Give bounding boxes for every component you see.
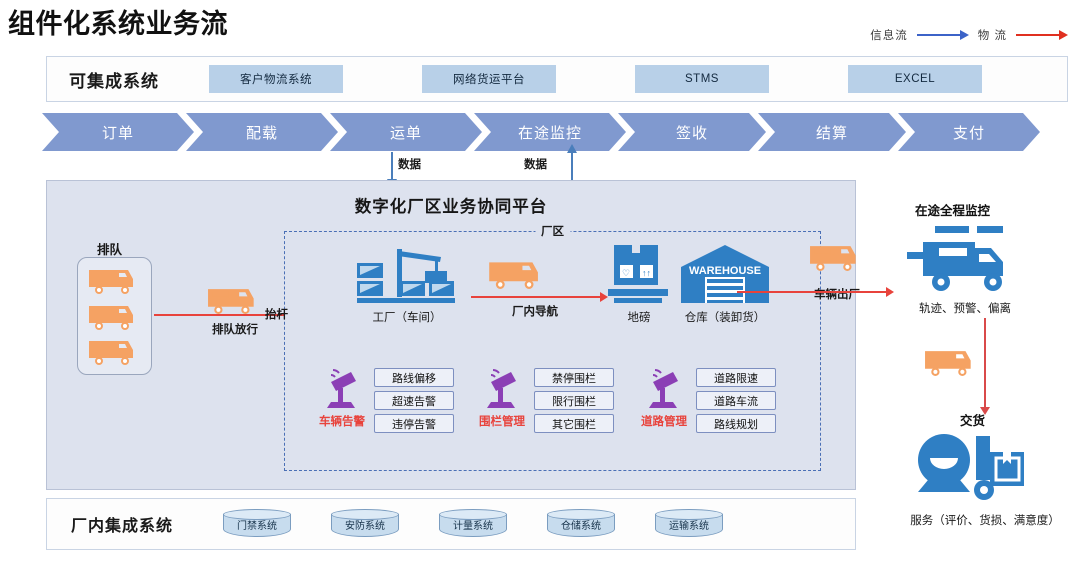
- truck-icon: [87, 303, 143, 330]
- warehouse-icon-text: WAREHOUSE: [689, 265, 761, 277]
- legend-material-flow-label: 物 流: [978, 27, 1007, 43]
- truck-icon: [205, 286, 265, 314]
- mgmt-chip-no-parking-fence[interactable]: 禁停围栏: [534, 368, 614, 387]
- cylinder-warehousing-system[interactable]: 仓储系统: [547, 509, 615, 539]
- legend-info-flow-label: 信息流: [870, 27, 908, 43]
- antenna-icon: [643, 366, 685, 412]
- material-flow-arrow-icon: [1016, 30, 1068, 40]
- svg-text:♡: ♡: [622, 268, 630, 278]
- cylinder-access-control-system[interactable]: 门禁系统: [223, 509, 291, 539]
- factory-systems-bar: 厂内集成系统 门禁系统 安防系统 计量系统 仓储系统 运输系统: [46, 498, 856, 550]
- warehouse-caption: 仓库（装卸货）: [667, 309, 783, 325]
- management-group-road: 道路管理 道路限速 道路车流 路线规划: [637, 366, 776, 433]
- mgmt-chip-route-planning[interactable]: 路线规划: [696, 414, 776, 433]
- mgmt-chip-route-deviation[interactable]: 路线偏移: [374, 368, 454, 387]
- mgmt-chip-speeding-alarm[interactable]: 超速告警: [374, 391, 454, 410]
- mgmt-chip-restricted-fence[interactable]: 限行围栏: [534, 391, 614, 410]
- integratable-chip-stms[interactable]: STMS: [635, 65, 769, 93]
- factory-systems-items: 门禁系统 安防系统 计量系统 仓储系统 运输系统: [223, 509, 723, 539]
- monitoring-truck-icon: [905, 222, 1023, 294]
- cylinder-security-system[interactable]: 安防系统: [331, 509, 399, 539]
- vehicle-exit-flow-line: [737, 291, 887, 293]
- delivery-flow-line: [984, 318, 986, 408]
- truck-icon: [87, 267, 143, 294]
- data-label-down: 数据: [398, 156, 421, 172]
- legend: 信息流 物 流: [870, 27, 1068, 43]
- truck-icon: [487, 259, 549, 289]
- vehicle-exit-caption: 车辆出厂: [802, 286, 872, 302]
- in-plant-navigation-caption: 厂内导航: [490, 303, 580, 319]
- factory-caption: 工厂（车间）: [347, 309, 467, 325]
- mgmt-chip-road-speed-limit[interactable]: 道路限速: [696, 368, 776, 387]
- process-step-order[interactable]: 订单: [42, 113, 194, 151]
- mgmt-chip-illegal-parking-alarm[interactable]: 违停告警: [374, 414, 454, 433]
- queue-label: 排队: [97, 239, 122, 258]
- cylinder-label: 安防系统: [331, 517, 399, 532]
- monitor-title: 在途全程监控: [915, 200, 990, 219]
- process-step-waybill[interactable]: 运单: [330, 113, 482, 151]
- data-arrow-down-icon: [391, 152, 393, 180]
- process-step-signoff[interactable]: 签收: [618, 113, 766, 151]
- data-arrow-up-icon: [571, 152, 573, 180]
- queue-box: [77, 257, 152, 375]
- digital-yard-platform-panel: 数字化厂区业务协同平台 厂区 排队: [46, 180, 856, 490]
- svg-text:↑↑: ↑↑: [642, 268, 651, 278]
- factory-systems-title: 厂内集成系统: [71, 512, 223, 536]
- management-group-geofence: 围栏管理 禁停围栏 限行围栏 其它围栏: [475, 366, 614, 433]
- process-step-payment[interactable]: 支付: [898, 113, 1040, 151]
- mgmt-chip-road-traffic[interactable]: 道路车流: [696, 391, 776, 410]
- management-name-vehicle-alarm: 车辆告警: [319, 413, 365, 429]
- cylinder-label: 运输系统: [655, 517, 723, 532]
- warehouse-icon: WAREHOUSE: [679, 243, 771, 305]
- integratable-systems-bar: 可集成系统 客户物流系统 网络货运平台 STMS EXCEL: [46, 56, 1068, 102]
- cylinder-metering-system[interactable]: 计量系统: [439, 509, 507, 539]
- integratable-systems-items: 客户物流系统 网络货运平台 STMS EXCEL: [209, 65, 1067, 93]
- integratable-chip-customer-logistics[interactable]: 客户物流系统: [209, 65, 343, 93]
- yard-label: 厂区: [535, 223, 570, 239]
- cylinder-label: 门禁系统: [223, 517, 291, 532]
- antenna-icon: [321, 366, 363, 412]
- weighbridge-caption: 地磅: [609, 309, 669, 325]
- info-flow-arrow-icon: [917, 30, 969, 40]
- process-step-settlement[interactable]: 结算: [758, 113, 906, 151]
- cylinder-transport-system[interactable]: 运输系统: [655, 509, 723, 539]
- antenna-icon: [481, 366, 523, 412]
- monitor-caption: 轨迹、预警、偏离: [905, 300, 1025, 316]
- platform-title: 数字化厂区业务协同平台: [47, 193, 855, 217]
- in-plant-navigation-flow-line: [471, 296, 601, 298]
- cylinder-label: 计量系统: [439, 517, 507, 532]
- weighbridge-icon: ♡↑↑: [606, 243, 672, 305]
- integratable-chip-excel[interactable]: EXCEL: [848, 65, 982, 93]
- integratable-chip-network-freight[interactable]: 网络货运平台: [422, 65, 556, 93]
- management-group-vehicle-alarm: 车辆告警 路线偏移 超速告警 违停告警: [315, 366, 454, 433]
- integratable-systems-title: 可集成系统: [69, 67, 209, 92]
- mgmt-chip-other-fence[interactable]: 其它围栏: [534, 414, 614, 433]
- truck-icon: [922, 348, 982, 376]
- delivery-service-icon: [910, 424, 1034, 508]
- gate-lift-label: 抬杆: [265, 306, 288, 322]
- queue-release-label: 排队放行: [195, 321, 275, 337]
- management-name-road: 道路管理: [641, 413, 687, 429]
- data-label-up: 数据: [524, 156, 547, 172]
- truck-icon: [87, 338, 143, 365]
- process-step-intransit-monitoring[interactable]: 在途监控: [474, 113, 626, 151]
- process-step-loading[interactable]: 配载: [186, 113, 338, 151]
- truck-icon: [807, 243, 867, 271]
- page-title: 组件化系统业务流: [8, 2, 228, 41]
- factory-icon: [355, 243, 460, 306]
- management-name-geofence: 围栏管理: [479, 413, 525, 429]
- cylinder-label: 仓储系统: [547, 517, 615, 532]
- service-caption: 服务（评价、货损、满意度）: [895, 512, 1075, 528]
- process-flow: 订单 配载 运单 在途监控 签收 结算 支付: [42, 113, 1072, 151]
